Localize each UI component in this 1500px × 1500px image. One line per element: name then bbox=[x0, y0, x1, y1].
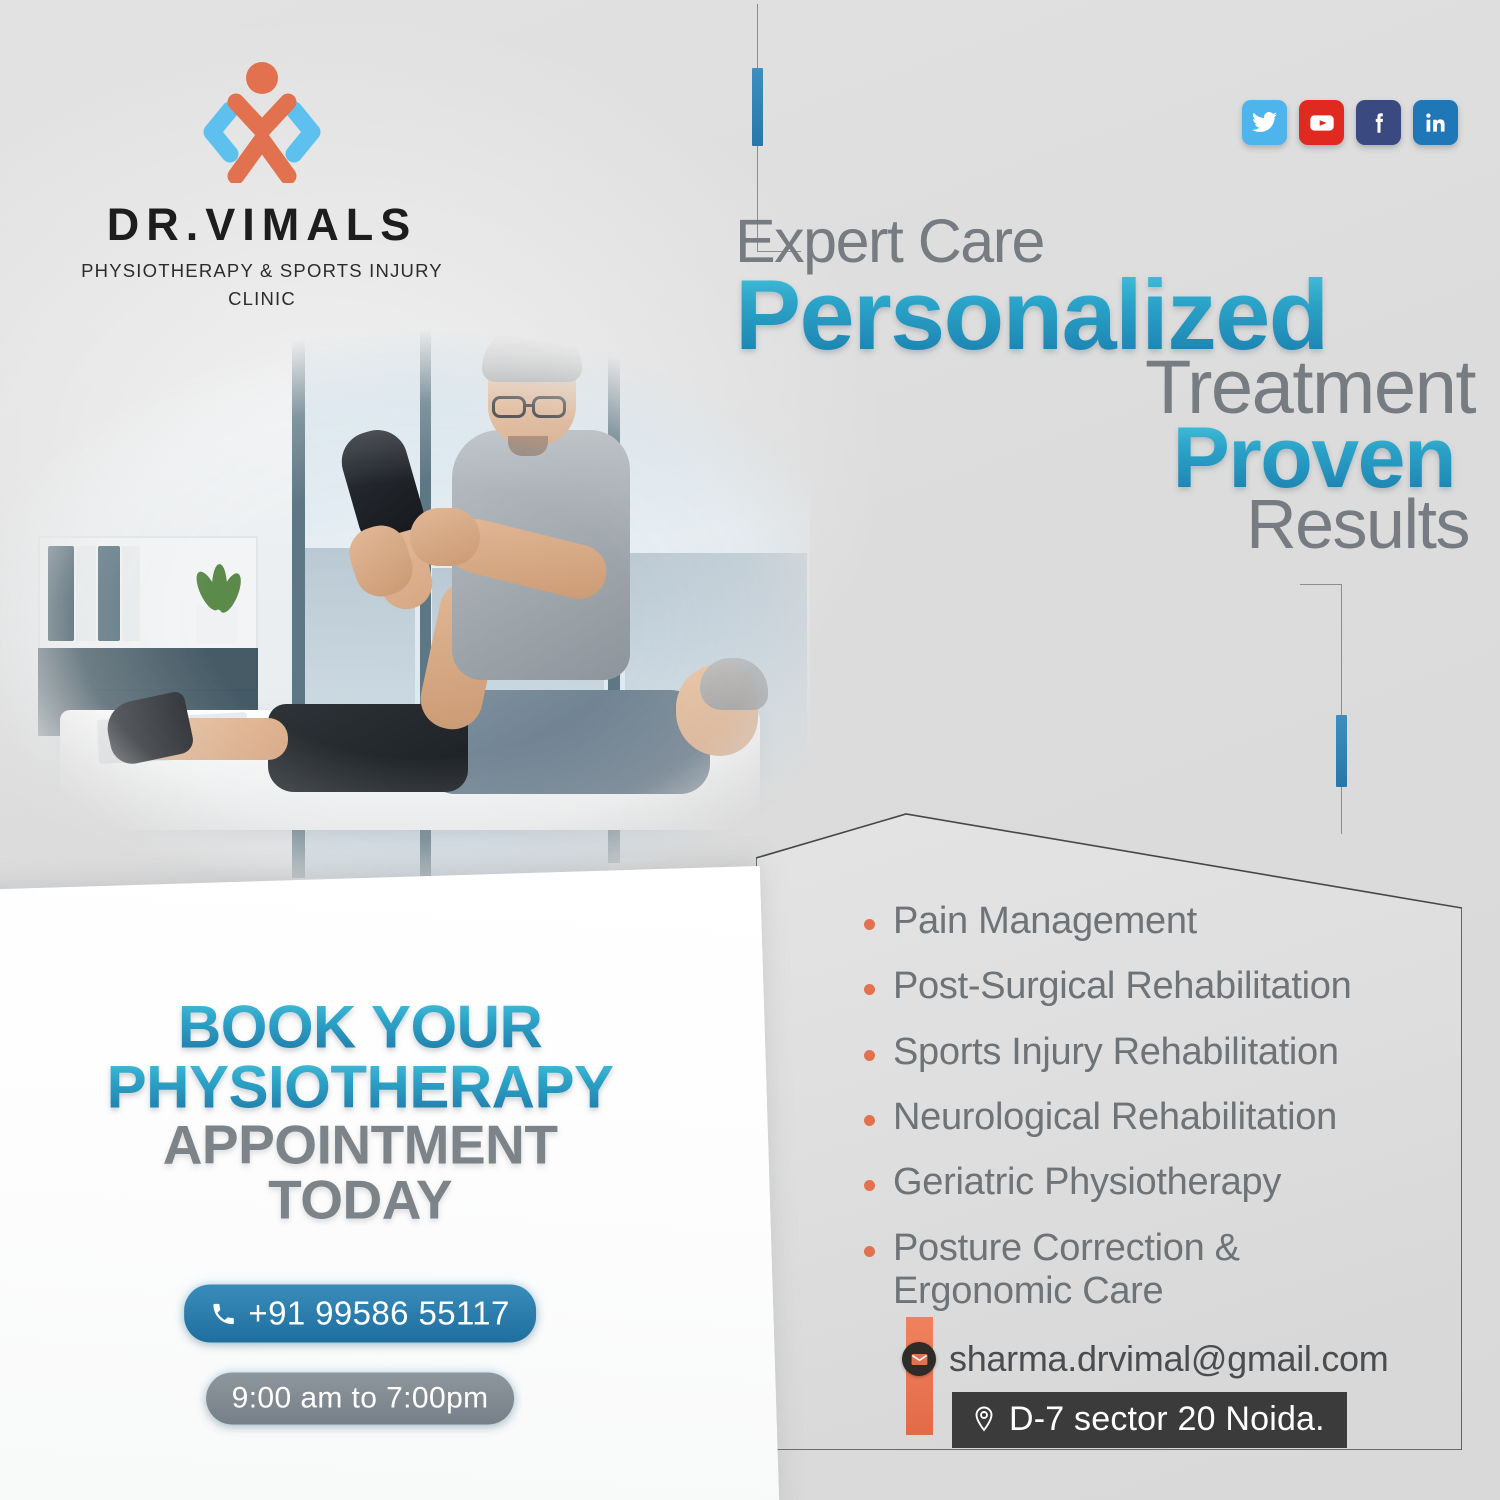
service-item: Posture Correction & Ergonomic Care bbox=[864, 1227, 1464, 1314]
phone-icon bbox=[210, 1300, 237, 1327]
service-label: Sports Injury Rehabilitation bbox=[893, 1031, 1339, 1074]
bracket-accent-top bbox=[752, 68, 763, 146]
brand-logo: DR.VIMALS PHYSIOTHERAPY & SPORTS INJURY … bbox=[62, 58, 462, 310]
phone-number: +91 99586 55117 bbox=[248, 1294, 509, 1332]
email-row[interactable]: sharma.drvimal@gmail.com bbox=[902, 1338, 1388, 1380]
bullet-dot-icon bbox=[864, 1246, 875, 1257]
cta-card: BOOK YOUR PHYSIOTHERAPY APPOINTMENT TODA… bbox=[0, 866, 780, 1500]
hours-badge: 9:00 am to 7:00pm bbox=[206, 1372, 515, 1424]
linkedin-icon[interactable] bbox=[1413, 100, 1458, 145]
location-pin-icon bbox=[972, 1405, 996, 1435]
services-list: Pain Management Post-Surgical Rehabilita… bbox=[864, 900, 1464, 1335]
hours-text: 9:00 am to 7:00pm bbox=[232, 1381, 489, 1415]
service-item: Geriatric Physiotherapy bbox=[864, 1161, 1464, 1204]
service-label: Post-Surgical Rehabilitation bbox=[893, 965, 1351, 1008]
bullet-dot-icon bbox=[864, 1050, 875, 1061]
bullet-dot-icon bbox=[864, 1180, 875, 1191]
clinic-photo bbox=[0, 318, 810, 898]
cta-heading: BOOK YOUR PHYSIOTHERAPY APPOINTMENT TODA… bbox=[0, 997, 730, 1227]
brand-name: DR.VIMALS bbox=[62, 199, 462, 251]
service-item: Post-Surgical Rehabilitation bbox=[864, 965, 1464, 1008]
services-card: Pain Management Post-Surgical Rehabilita… bbox=[756, 790, 1462, 1450]
bullet-dot-icon bbox=[864, 1115, 875, 1126]
human-figure-logo-icon bbox=[192, 58, 332, 183]
headline-block: Expert Care Personalized Treatment Prove… bbox=[735, 212, 1475, 558]
email-address: sharma.drvimal@gmail.com bbox=[949, 1338, 1388, 1380]
brand-tagline-line1: PHYSIOTHERAPY & SPORTS INJURY bbox=[62, 260, 462, 282]
social-links bbox=[1242, 100, 1458, 145]
address-text: D-7 sector 20 Noida. bbox=[1009, 1400, 1325, 1439]
cta-line-physiotherapy: PHYSIOTHERAPY bbox=[0, 1057, 730, 1117]
service-label: Posture Correction & Ergonomic Care bbox=[893, 1227, 1240, 1314]
service-item: Neurological Rehabilitation bbox=[864, 1096, 1464, 1139]
brand-tagline-line2: CLINIC bbox=[62, 288, 462, 310]
bullet-dot-icon bbox=[864, 984, 875, 995]
envelope-icon bbox=[902, 1342, 936, 1376]
service-label: Geriatric Physiotherapy bbox=[893, 1161, 1281, 1204]
bracket-right-horizontal bbox=[1300, 584, 1342, 585]
address-badge: D-7 sector 20 Noida. bbox=[952, 1392, 1347, 1448]
service-item: Sports Injury Rehabilitation bbox=[864, 1031, 1464, 1074]
headline-line-proven: Proven bbox=[735, 417, 1475, 500]
bullet-dot-icon bbox=[864, 919, 875, 930]
facebook-icon[interactable] bbox=[1356, 100, 1401, 145]
service-label: Pain Management bbox=[893, 900, 1197, 943]
cta-line-book-your: BOOK YOUR bbox=[0, 997, 730, 1057]
twitter-icon[interactable] bbox=[1242, 100, 1287, 145]
phone-row: +91 99586 55117 bbox=[0, 1284, 730, 1342]
service-item: Pain Management bbox=[864, 900, 1464, 943]
bracket-accent-right bbox=[1336, 715, 1347, 787]
service-label: Neurological Rehabilitation bbox=[893, 1096, 1337, 1139]
poster-canvas: DR.VIMALS PHYSIOTHERAPY & SPORTS INJURY … bbox=[0, 0, 1500, 1500]
cta-line-appointment: APPOINTMENT bbox=[0, 1117, 730, 1172]
headline-line-personalized: Personalized bbox=[735, 267, 1475, 362]
phone-button[interactable]: +91 99586 55117 bbox=[184, 1284, 535, 1342]
hours-row: 9:00 am to 7:00pm bbox=[0, 1372, 730, 1424]
youtube-icon[interactable] bbox=[1299, 100, 1344, 145]
cta-line-today: TODAY bbox=[0, 1172, 730, 1227]
